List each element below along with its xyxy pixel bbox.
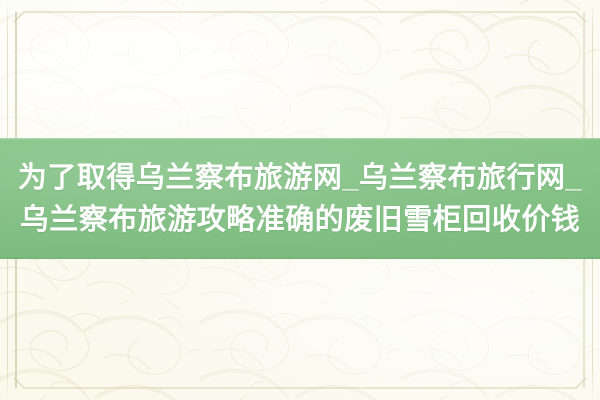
banner-image-canvas: 为了取得乌兰察布旅游网_乌兰察布旅行网_乌兰察布旅游攻略准确的废旧雪柜回收价钱: [0, 0, 600, 400]
banner-bottom-edge: [0, 257, 600, 259]
banner-top-edge: [0, 138, 600, 140]
green-headline-banner: 为了取得乌兰察布旅游网_乌兰察布旅行网_乌兰察布旅游攻略准确的废旧雪柜回收价钱: [0, 138, 600, 259]
banner-headline-text: 为了取得乌兰察布旅游网_乌兰察布旅行网_乌兰察布旅游攻略准确的废旧雪柜回收价钱: [0, 157, 600, 241]
